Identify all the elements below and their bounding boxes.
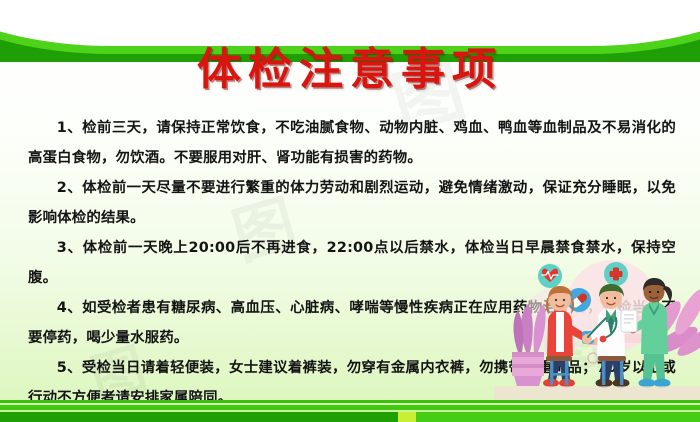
poster-root: 图 图 图 图 体检注意事项 1、检前三天，请保持正常饮食，不吃油腻食物、动物内… bbox=[0, 0, 700, 422]
footer-stripe-dark-accent bbox=[0, 412, 400, 422]
notice-item-1: 1、检前三天，请保持正常饮食，不吃油腻食物、动物内脏、鸡血、鸭血等血制品及不易消… bbox=[28, 113, 676, 173]
medical-cross-icon bbox=[604, 262, 628, 286]
health-checkup-illustration bbox=[494, 260, 700, 400]
decor-circle bbox=[588, 353, 598, 363]
notice-item-2: 2、体检前一天尽量不要进行繁重的体力劳动和剧烈运动，避免情绪激动，保证充分睡眠，… bbox=[28, 173, 676, 233]
page-title: 体检注意事项 bbox=[0, 46, 700, 94]
footer-stripe-yellow-accent bbox=[398, 412, 416, 422]
header-white-arc bbox=[0, 0, 700, 46]
heart-ecg-icon bbox=[538, 264, 562, 288]
footer-stripe-band bbox=[0, 400, 700, 422]
potted-plant bbox=[512, 304, 546, 386]
